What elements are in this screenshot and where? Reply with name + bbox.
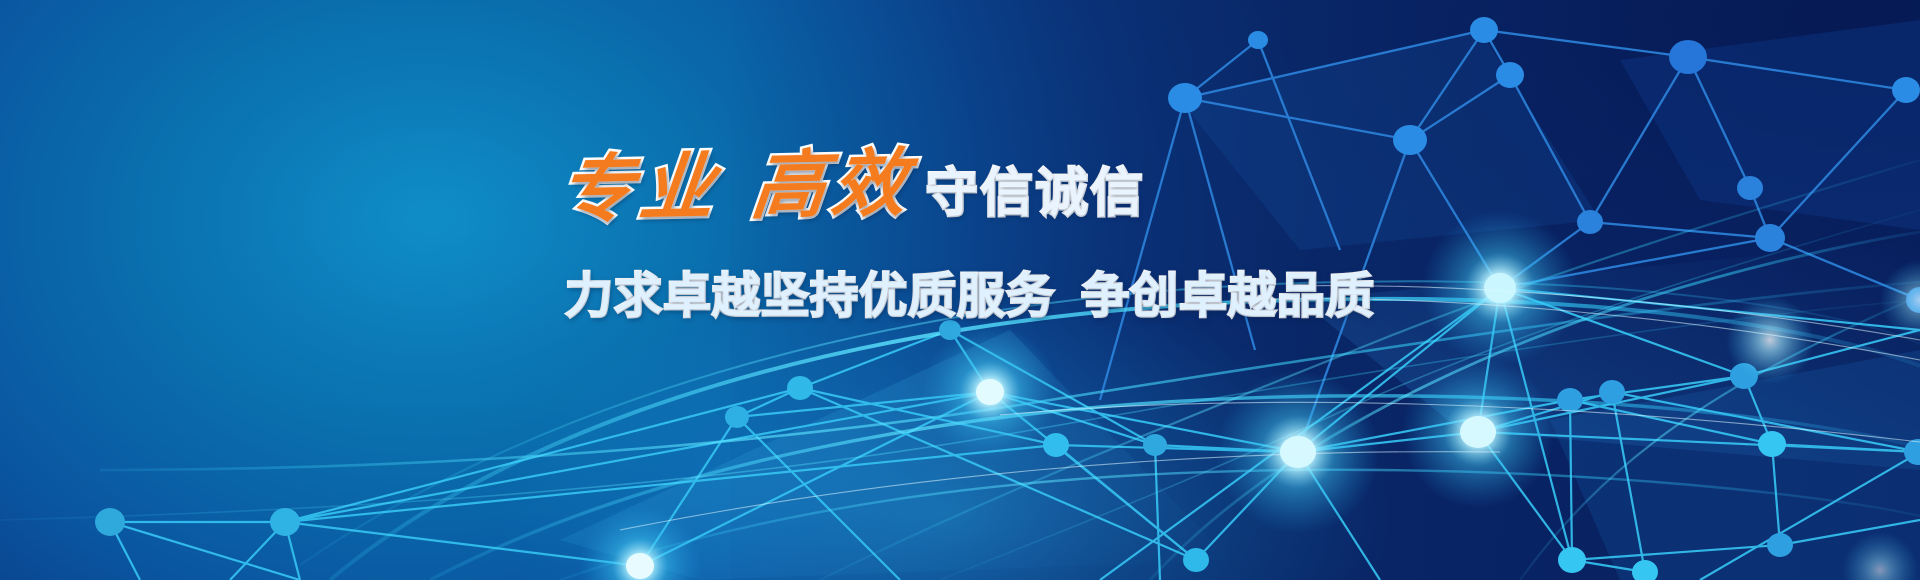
hero-banner: 专业 高效 守信诚信 力求卓越坚持优质服务争创卓越品质 (0, 0, 1920, 580)
network-graphic (0, 0, 1920, 580)
